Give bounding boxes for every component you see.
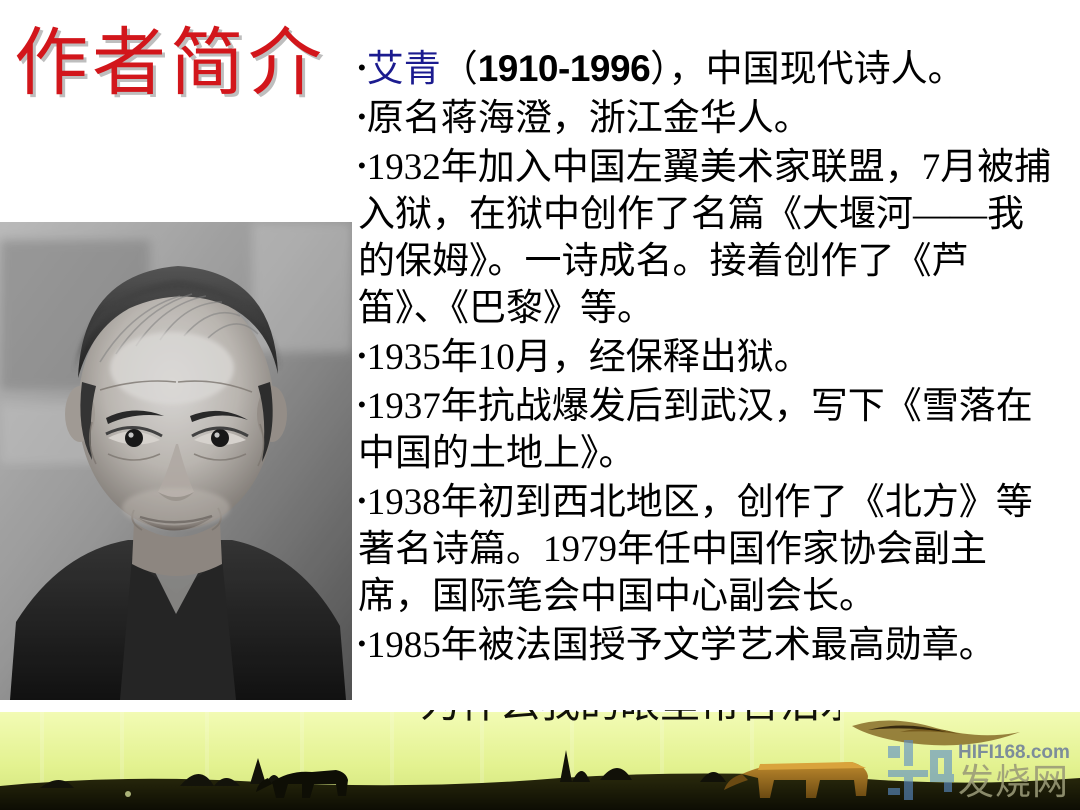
biography-line: •原名蒋海澄，浙江金华人。	[358, 93, 1058, 142]
watermark-name-text: 发烧网	[958, 764, 1069, 800]
slide-canvas: 作者简介	[0, 0, 1080, 810]
hifi168-logo-icon	[886, 740, 956, 804]
bullet-icon: •	[358, 343, 366, 368]
biography-text-segment: 1937年抗战爆发后到武汉，写下《雪落在中国的土地上》。	[358, 386, 1033, 474]
biography-text-segment: 1932年加入中国左翼美术家联盟，7月被捕入狱，在狱中创作了名篇《大堰河——我的…	[358, 147, 1051, 329]
bullet-icon: •	[358, 392, 366, 417]
banner-cut-off-text: 为什么我的眼里常含泪水？	[420, 710, 840, 726]
bullet-icon: •	[358, 153, 366, 178]
biography-line: •1985年被法国授予文学艺术最高勋章。	[358, 620, 1058, 669]
biography-line: •1935年10月，经保释出狱。	[358, 332, 1058, 381]
portrait-photo-image	[0, 222, 352, 700]
biography-line: •1938年初到西北地区，创作了《北方》等著名诗篇。1979年任中国作家协会副主…	[358, 477, 1058, 620]
biography-text-segment: ），中国现代诗人。	[650, 49, 965, 90]
watermark-site-text: HIFI168.com	[958, 742, 1070, 764]
biography-line: •1932年加入中国左翼美术家联盟，7月被捕入狱，在狱中创作了名篇《大堰河——我…	[358, 142, 1058, 332]
biography-text-segment: 1985年被法国授予文学艺术最高勋章。	[367, 625, 996, 666]
biography-text-segment: 1910-1996	[478, 48, 650, 89]
biography-text-segment: 原名蒋海澄，浙江金华人。	[367, 98, 811, 139]
page-title: 作者简介	[14, 22, 344, 106]
bullet-icon: •	[358, 631, 366, 656]
biography-line: •1937年抗战爆发后到武汉，写下《雪落在中国的土地上》。	[358, 381, 1058, 477]
biography-text-segment: 艾青	[367, 49, 441, 90]
watermark: HIFI168.com 发烧网	[886, 736, 1080, 808]
biography-text-block: •艾青（1910-1996），中国现代诗人。•原名蒋海澄，浙江金华人。•1932…	[358, 44, 1058, 669]
bullet-icon: •	[358, 104, 366, 129]
biography-text-segment: 1938年初到西北地区，创作了《北方》等著名诗篇。1979年任中国作家协会副主席…	[358, 482, 1033, 617]
banner-cut-off-text-value: 为什么我的眼里常含泪水？	[420, 710, 840, 724]
biography-text-segment: 1935年10月，经保释出狱。	[367, 337, 811, 378]
portrait-photo	[0, 222, 352, 700]
bullet-icon: •	[358, 488, 366, 513]
bullet-icon: •	[358, 55, 366, 80]
biography-text-segment: （	[441, 49, 478, 90]
biography-line: •艾青（1910-1996），中国现代诗人。	[358, 44, 1058, 93]
